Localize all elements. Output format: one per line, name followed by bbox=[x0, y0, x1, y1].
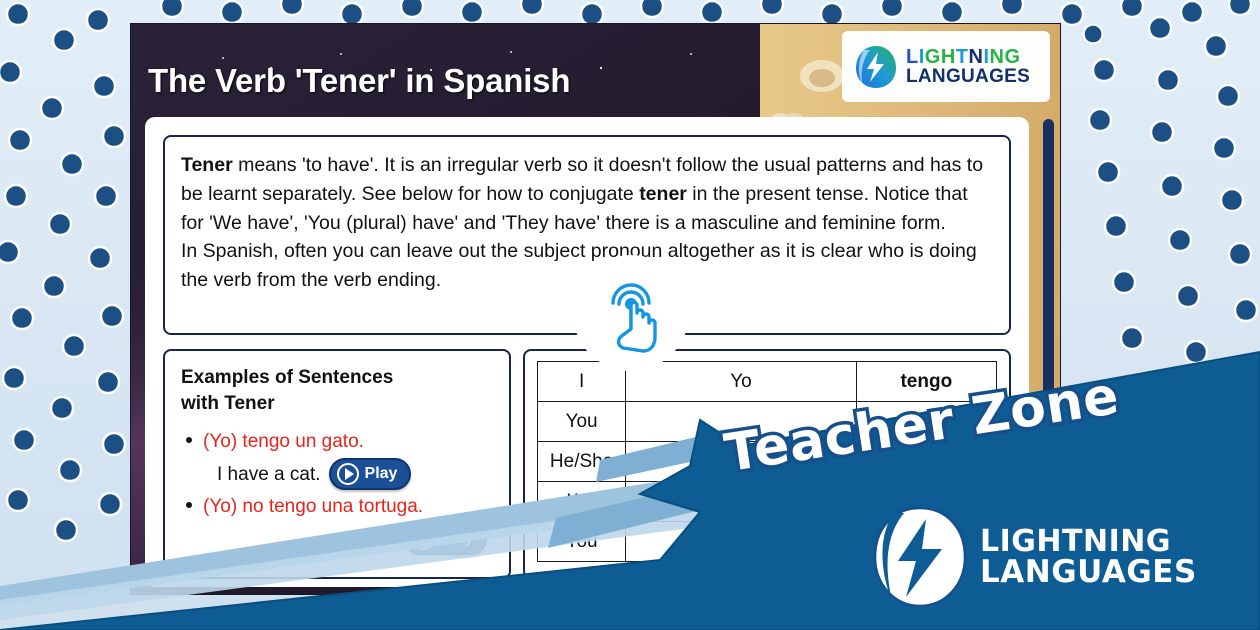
page-title: The Verb 'Tener' in Spanish bbox=[148, 62, 570, 100]
examples-list: (Yo) tengo un gato. I have a cat. Play (… bbox=[181, 427, 493, 555]
examples-title: Examples of Sentences with Tener bbox=[181, 365, 431, 417]
intro-bold-tener-2: tener bbox=[639, 183, 687, 205]
play-label: Play bbox=[440, 530, 473, 548]
play-button[interactable]: Play bbox=[329, 458, 412, 490]
example-spanish: (Yo) no tengo una tortuga. bbox=[203, 492, 493, 521]
cell-english: We bbox=[538, 482, 626, 522]
lightning-leaf-icon bbox=[872, 505, 968, 609]
page-root: The Verb 'Tener' in Spanish LIGHTNING LA… bbox=[0, 0, 1260, 630]
cell-english: You bbox=[538, 522, 626, 562]
lightning-leaf-icon bbox=[854, 44, 898, 90]
intro-paragraph-1: Tener means 'to have'. It is an irregula… bbox=[181, 151, 993, 237]
cell-english: He/She bbox=[538, 442, 626, 482]
list-item: (Yo) tengo un gato. I have a cat. Play bbox=[181, 427, 493, 490]
intro-bold-tener: Tener bbox=[181, 154, 233, 176]
list-item: (Yo) no tengo una tortuga. Play bbox=[181, 492, 493, 555]
logo-word-lightning: LIGHTNING bbox=[906, 47, 1030, 67]
bullet-icon bbox=[186, 437, 192, 443]
examples-panel: Examples of Sentences with Tener (Yo) te… bbox=[163, 349, 511, 579]
cell-spanish bbox=[626, 522, 857, 562]
example-english-row: I have a cat. Play bbox=[203, 458, 493, 490]
example-english-row: Play bbox=[203, 523, 493, 555]
play-button[interactable]: Play bbox=[404, 523, 487, 555]
logo-word-languages: LANGUAGES bbox=[906, 67, 1030, 86]
example-spanish: (Yo) tengo un gato. bbox=[203, 427, 493, 456]
bullet-icon bbox=[186, 502, 192, 508]
logo-line-lightning: LIGHTNING bbox=[980, 527, 1197, 556]
cell-english: You bbox=[538, 402, 626, 442]
cell-spanish: Nosotros bbox=[626, 482, 857, 522]
example-english: I have a cat. bbox=[217, 460, 321, 489]
tap-click-icon bbox=[573, 255, 689, 371]
cell-spanish: Yo bbox=[626, 362, 857, 402]
logo-line-languages: LANGUAGES bbox=[980, 557, 1197, 587]
teacher-zone-logo: LIGHTNING LANGUAGES bbox=[872, 505, 1197, 609]
teacher-zone-logo-text: LIGHTNING LANGUAGES bbox=[980, 527, 1197, 587]
play-label: Play bbox=[365, 465, 398, 483]
header-logo: LIGHTNING LANGUAGES bbox=[842, 31, 1050, 102]
play-icon bbox=[412, 528, 434, 550]
play-icon bbox=[337, 463, 359, 485]
